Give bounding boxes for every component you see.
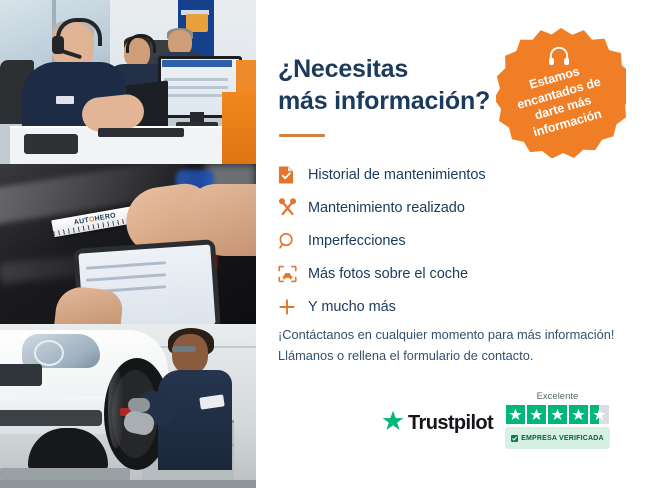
car-scan-icon — [278, 265, 308, 283]
tools-icon — [278, 198, 308, 217]
star-half — [590, 405, 609, 424]
headset-icon — [548, 46, 570, 66]
photo-collage: AUTOHERO — [0, 0, 256, 488]
list-item: Mantenimiento realizado — [278, 191, 618, 224]
star-filled — [569, 405, 588, 424]
star-filled — [506, 405, 525, 424]
blurb-line-2: Llámanos o rellena el formulario de cont… — [278, 346, 638, 367]
workshop-floor — [0, 480, 256, 488]
orange-panel — [222, 92, 256, 164]
laptop-keyboard — [98, 128, 184, 137]
desk-tablet — [24, 134, 78, 154]
verified-label: EMPRESA VERIFICADA — [521, 435, 604, 442]
trustpilot-rating-block: Excelente — [505, 391, 610, 449]
star-rating — [506, 405, 609, 424]
headlight-ring — [34, 340, 64, 366]
promo-banner: AUTOHERO — [0, 0, 650, 488]
plus-icon — [278, 298, 308, 316]
list-item: Y mucho más — [278, 290, 618, 323]
monitor-header-bar — [162, 60, 232, 67]
technician-head — [172, 334, 208, 374]
list-item: Imperfecciones — [278, 224, 618, 257]
trustpilot-widget[interactable]: Trustpilot Excelente — [382, 386, 632, 454]
monitor-content-row — [164, 94, 228, 97]
list-item-label: Imperfecciones — [308, 233, 406, 249]
promo-badge: Estamos encantados de darte más informac… — [496, 28, 626, 158]
list-item: Más fotos sobre el coche — [278, 257, 618, 290]
list-item-label: Historial de mantenimientos — [308, 167, 486, 183]
trustpilot-star-icon — [382, 410, 404, 436]
page-title: ¿Necesitas más información? — [278, 54, 528, 117]
star-filled — [527, 405, 546, 424]
call-center-agents-photo — [0, 0, 256, 164]
status-badge: EMPRESA VERIFICADA — [505, 427, 610, 449]
safety-glasses-icon — [172, 346, 196, 352]
car-side-vent — [0, 364, 42, 386]
trustpilot-wordmark: Trustpilot — [408, 412, 493, 435]
agent-one-name-badge — [56, 96, 74, 104]
contact-blurb: ¡Contáctanos en cualquier momento para m… — [278, 325, 638, 366]
car-lower-grille — [0, 410, 102, 426]
car-lift-arm — [0, 468, 130, 480]
magnifier-icon — [278, 232, 308, 250]
star-filled — [548, 405, 567, 424]
monitor-content-row — [164, 86, 228, 89]
content-panel: ¿Necesitas más información? Estamos enca… — [256, 0, 650, 488]
technician-wheel-photo — [0, 324, 256, 488]
agent-two-headset-icon — [126, 34, 156, 53]
list-item-label: Y mucho más — [308, 299, 396, 315]
list-item-label: Más fotos sobre el coche — [308, 266, 468, 282]
monitor-content-row — [164, 78, 228, 81]
blurb-line-1: ¡Contáctanos en cualquier momento para m… — [278, 325, 638, 346]
technician-glove-upper — [128, 398, 150, 412]
rating-label: Excelente — [537, 391, 579, 402]
headline-line-1: ¿Necesitas — [278, 55, 408, 83]
headline-line-2: más información? — [278, 87, 490, 115]
feature-list: Historial de mantenimientos Mantenimient… — [278, 158, 618, 323]
document-check-icon — [278, 165, 308, 184]
check-icon — [511, 429, 518, 447]
trustpilot-brand: Trustpilot — [382, 410, 493, 436]
car-inspection-ruler-photo: AUTOHERO — [0, 164, 256, 324]
list-item: Historial de mantenimientos — [278, 158, 618, 191]
title-divider — [279, 134, 325, 137]
list-item-label: Mantenimiento realizado — [308, 200, 465, 216]
